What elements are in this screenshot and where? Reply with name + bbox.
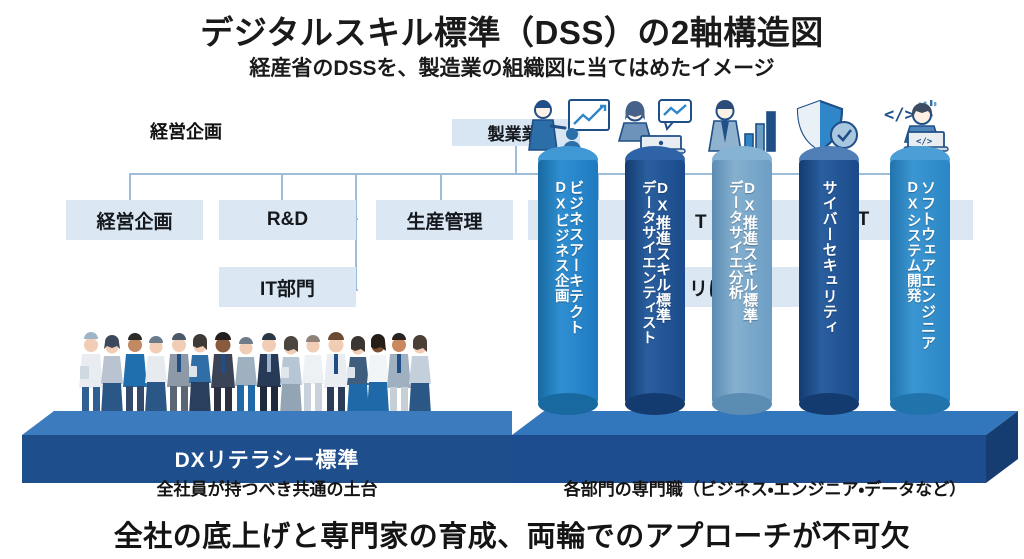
org-box-label: R&D (267, 209, 308, 231)
org-root-label: 経営企画 (150, 118, 222, 144)
cylinder-label-secondary: DXビジネス企画 (553, 180, 568, 335)
org-box-label: 経営企画 (96, 207, 172, 234)
cylinder-label-group: ソフトウェアエンジニア DXシステム開発 (890, 180, 950, 351)
org-box-keiei-kikaku: 経営企画 (66, 200, 203, 240)
slab-right-caption: 各部門の専門職（ビジネス・エンジニア・データなど） (512, 475, 1018, 500)
cylinder-label-secondary: データサイエンティスト (640, 180, 655, 345)
cylinder-label-secondary: データサイエ分析 (727, 180, 742, 324)
org-box-label: IT部門 (260, 274, 315, 301)
cylinder-foot (625, 393, 685, 415)
org-connector (440, 173, 442, 201)
cylinder-label-group: ビジネスアーキテクト DXビジネス企画 (538, 180, 598, 335)
cylinder-label-group: DX推進スキル標準 データサイエンティスト (625, 180, 685, 345)
org-connector (129, 173, 899, 175)
slab-left-label: DXリテラシー標準 (175, 444, 360, 474)
cylinder-label-secondary: DXシステム開発 (905, 180, 920, 351)
slab-left-top (22, 411, 512, 435)
slab-left: DXリテラシー標準 (22, 411, 512, 483)
cylinder-label-group: サイバーセキュリティ (799, 180, 859, 335)
org-box-label: 生産管理 (406, 207, 482, 234)
org-chart: 経営企画 製業業! 経営企画 R&D 生産管理 門 (0, 0, 1024, 330)
slab-right (512, 411, 1018, 483)
org-box-it-bumon: IT部門 (219, 267, 356, 307)
cylinder-business-architect[interactable]: ビジネスアーキテクト DXビジネス企画 (538, 146, 598, 418)
cylinder-foot (890, 393, 950, 415)
cylinder-label-primary: サイバーセキュリティ (821, 180, 836, 335)
org-box-seisan-kanri: 生産管理 (376, 200, 513, 240)
cylinder-foot (538, 393, 598, 415)
cylinder-software-engineer[interactable]: </> </> ソフトウェアエンジニア DXシステム開発 (890, 146, 950, 418)
cylinder-data-analysis[interactable]: DX推進スキル標準 データサイエ分析 (712, 146, 772, 418)
slab-left-caption: 全社員が持つべき共通の土台 (22, 475, 512, 500)
org-connector (515, 143, 517, 173)
cylinder-foot (799, 393, 859, 415)
org-connector (281, 173, 283, 201)
svg-text:</>: </> (884, 105, 915, 125)
org-box-rnd: R&D (219, 200, 356, 240)
cylinder-foot (712, 393, 772, 415)
cylinder-label-group: DX推進スキル標準 データサイエ分析 (712, 180, 772, 324)
cylinder-data-scientist[interactable]: DX推進スキル標準 データサイエンティスト (625, 146, 685, 418)
cylinder-label-primary: DX推進スキル標準 (742, 180, 757, 324)
cylinder-label-primary: ビジネスアーキテクト (568, 180, 583, 335)
org-connector (129, 173, 131, 201)
infographic-canvas: デジタルスキル標準（DSS）の2軸構造図 経産省のDSSを、製造業の組織図に当て… (0, 0, 1024, 559)
cylinder-label-primary: ソフトウェアエンジニア (920, 180, 935, 351)
cylinder-cyber-security[interactable]: サイバーセキュリティ (799, 146, 859, 418)
cylinder-label-primary: DX推進スキル標準 (655, 180, 670, 345)
footer-tagline: 全社の底上げと専門家の育成、両輪でのアプローチが不可欠 (0, 513, 1024, 555)
